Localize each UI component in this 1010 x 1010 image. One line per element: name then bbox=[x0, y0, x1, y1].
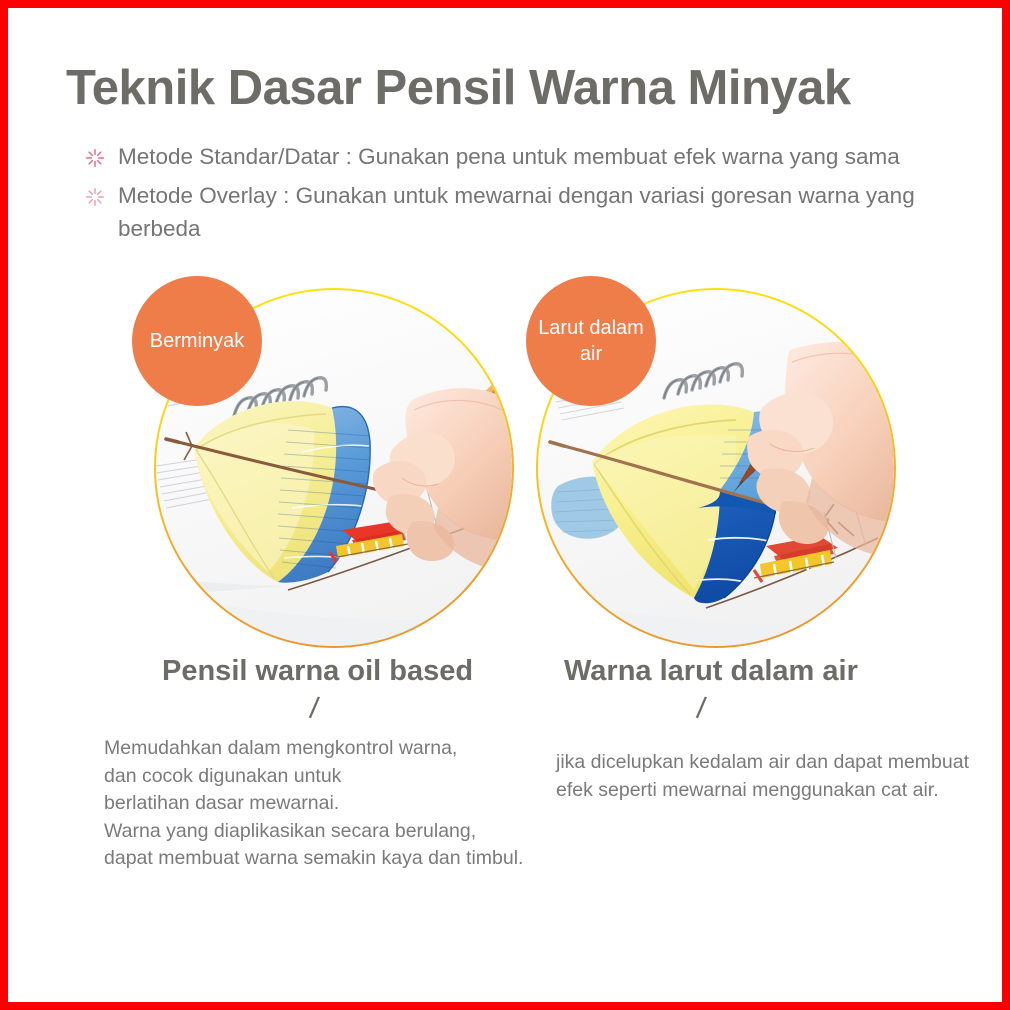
list-item: Metode Overlay : Gunakan untuk mewarnai … bbox=[84, 179, 994, 245]
list-item: Metode Standar/Datar : Gunakan pena untu… bbox=[84, 140, 994, 173]
caption-heading-oil-based: Pensil warna oil based bbox=[162, 655, 473, 688]
asterisk-burst-icon bbox=[84, 184, 106, 206]
poster-frame: Teknik Dasar Pensil Warna Minyak bbox=[0, 0, 1010, 1010]
caption-heading-water-soluble: Warna larut dalam air bbox=[564, 655, 858, 688]
badge-label: Berminyak bbox=[150, 328, 244, 354]
badge-label: Larut dalam air bbox=[534, 315, 648, 367]
panel-oil-based: Berminyak bbox=[132, 276, 512, 656]
divider-slash-right: / bbox=[695, 692, 708, 727]
list-item-label: Metode Overlay : Gunakan untuk mewarnai … bbox=[118, 183, 915, 241]
asterisk-burst-icon bbox=[84, 145, 106, 167]
panel-water-soluble: Larut dalam air bbox=[514, 276, 894, 656]
caption-body-water-soluble: jika dicelupkan kedalam air dan dapat me… bbox=[556, 749, 986, 804]
badge-berminyak: Berminyak bbox=[132, 276, 262, 406]
poster-body: Teknik Dasar Pensil Warna Minyak bbox=[8, 8, 1002, 1002]
divider-slash-left: / bbox=[308, 692, 321, 727]
page-title: Teknik Dasar Pensil Warna Minyak bbox=[66, 62, 986, 115]
badge-larut-dalam-air: Larut dalam air bbox=[526, 276, 656, 406]
list-item-label: Metode Standar/Datar : Gunakan pena untu… bbox=[118, 144, 900, 169]
method-bullet-list: Metode Standar/Datar : Gunakan pena untu… bbox=[84, 140, 994, 251]
caption-body-oil-based: Memudahkan dalam mengkontrol warna, dan … bbox=[104, 735, 574, 873]
